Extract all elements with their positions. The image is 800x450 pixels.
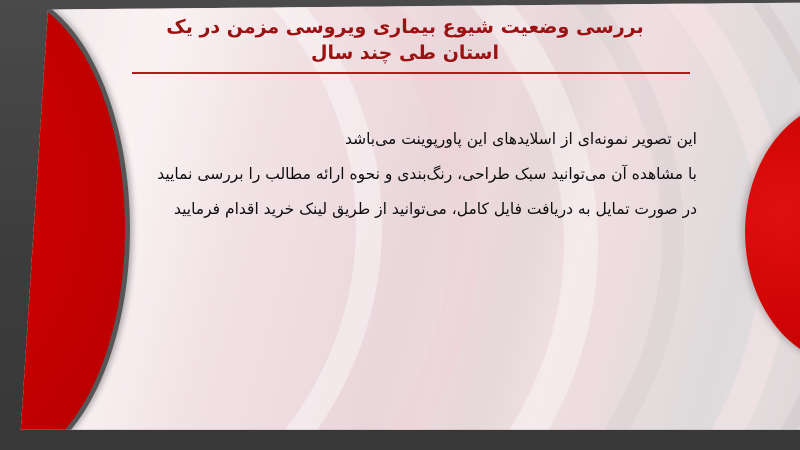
slide-content-panel: بررسی وضعیت شیوع بیماری ویروسی مزمن در ی… [0, 0, 800, 450]
body-line-3: در صورت تمایل به دریافت فایل کامل، می‌تو… [97, 192, 697, 227]
presentation-slide: بررسی وضعیت شیوع بیماری ویروسی مزمن در ی… [0, 0, 800, 450]
slide-title-line-1: بررسی وضعیت شیوع بیماری ویروسی مزمن در ی… [110, 14, 700, 40]
body-line-2: با مشاهده آن می‌توانید سبک طراحی، رنگ‌بن… [97, 157, 697, 192]
slide-title-line-2: استان طی چند سال [110, 40, 700, 66]
title-underline-rule [132, 72, 690, 74]
slide-title: بررسی وضعیت شیوع بیماری ویروسی مزمن در ی… [110, 14, 700, 66]
body-line-1: این تصویر نمونه‌ای از اسلایدهای این پاور… [97, 122, 697, 157]
slide-body-text: این تصویر نمونه‌ای از اسلایدهای این پاور… [97, 122, 697, 227]
